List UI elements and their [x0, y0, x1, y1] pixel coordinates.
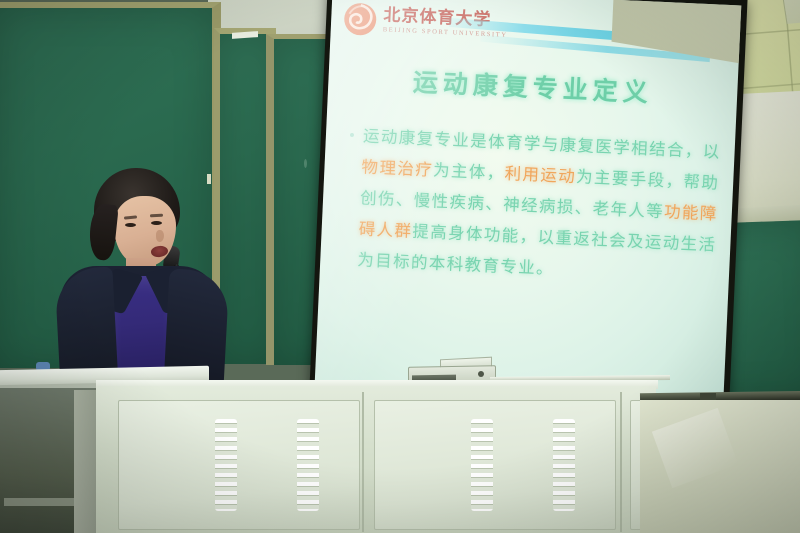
eye-left [125, 223, 136, 227]
presenter [58, 168, 228, 398]
slide-text-highlight: 功能障 [664, 202, 719, 223]
face [114, 196, 176, 266]
projection-screen: 北京体育大学 BEIJING SPORT UNIVERSITY 运动康复专业定义… [308, 0, 747, 429]
cabinet-louver [215, 419, 237, 511]
slide-text-run: 为主要手段，帮助 [576, 167, 720, 192]
cabinet-door[interactable] [374, 400, 616, 530]
projector-knob [478, 371, 484, 377]
screen-surface: 北京体育大学 BEIJING SPORT UNIVERSITY 运动康复专业定义… [314, 0, 741, 422]
lecture-hall-scene: 北京体育大学 BEIJING SPORT UNIVERSITY 运动康复专业定义… [0, 0, 800, 533]
cabinet-louver [297, 419, 319, 511]
cabinet-divider [362, 392, 364, 532]
chalk-smudge [304, 159, 307, 168]
swirl-logo-icon [343, 1, 379, 37]
eye-right [151, 221, 162, 225]
cabinet-louver [553, 419, 575, 511]
slide-text-highlight: 物理治疗 [361, 157, 433, 179]
slide-text-highlight: 利用运动 [504, 164, 576, 186]
hair-side-strand [87, 203, 119, 261]
slide-text-run: 为主体， [433, 161, 505, 183]
slide-title: 运动康复专业定义 [328, 59, 738, 114]
cabinet-divider [620, 392, 622, 532]
slide-text-run: 为目标的本科教育专业。 [357, 250, 555, 278]
slide-body-text: 运动康复专业是体育学与康复医学相结合，以物理治疗为主体，利用运动为主要手段，帮助… [344, 120, 720, 292]
podium-cabinet [96, 386, 656, 533]
slide-text-highlight: 碍人群 [358, 219, 413, 240]
cabinet-door[interactable] [118, 400, 360, 530]
bullet-icon [350, 132, 354, 136]
cabinet-louver [471, 419, 493, 511]
